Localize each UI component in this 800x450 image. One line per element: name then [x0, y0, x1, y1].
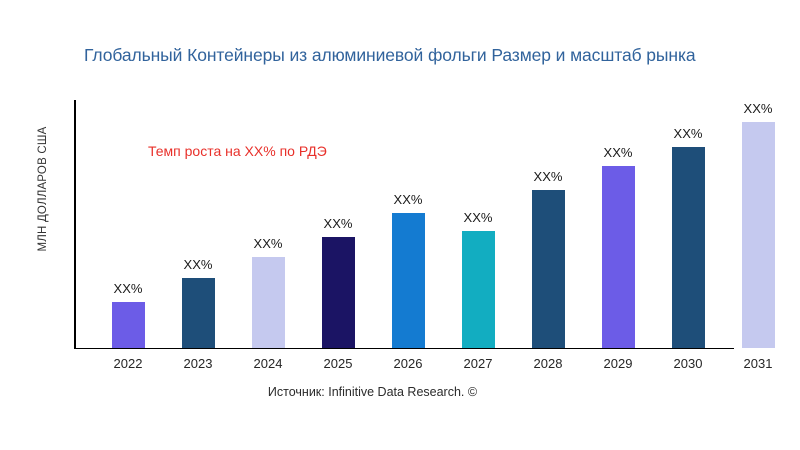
- bar-value-label: XX%: [373, 192, 443, 207]
- bar-group[interactable]: XX%2025: [303, 237, 373, 348]
- x-axis-tick-2027: 2027: [443, 356, 513, 371]
- x-axis-tick-2028: 2028: [513, 356, 583, 371]
- x-axis-tick-2030: 2030: [653, 356, 723, 371]
- bar-group[interactable]: XX%2022: [93, 302, 163, 348]
- x-axis-tick-2026: 2026: [373, 356, 443, 371]
- bar-value-label: XX%: [513, 169, 583, 184]
- bar-group[interactable]: XX%2031: [723, 122, 793, 348]
- chart-container: Глобальный Контейнеры из алюминиевой фол…: [0, 0, 800, 450]
- x-axis-tick-2025: 2025: [303, 356, 373, 371]
- bar-value-label: XX%: [723, 101, 793, 116]
- source-caption: Источник: Infinitive Data Research. ©: [0, 385, 745, 399]
- x-axis-tick-2024: 2024: [233, 356, 303, 371]
- bar-2029[interactable]: [602, 166, 635, 348]
- bar-value-label: XX%: [583, 145, 653, 160]
- bar-group[interactable]: XX%2029: [583, 166, 653, 348]
- x-axis-tick-2029: 2029: [583, 356, 653, 371]
- cagr-annotation: Темп роста на XX% по РДЭ: [148, 143, 327, 159]
- x-axis-tick-2023: 2023: [163, 356, 233, 371]
- x-axis-tick-2022: 2022: [93, 356, 163, 371]
- bar-group[interactable]: XX%2028: [513, 190, 583, 348]
- bar-value-label: XX%: [163, 257, 233, 272]
- bar-2025[interactable]: [322, 237, 355, 348]
- bar-group[interactable]: XX%2030: [653, 147, 723, 348]
- bar-2030[interactable]: [672, 147, 705, 348]
- bar-value-label: XX%: [443, 210, 513, 225]
- bar-value-label: XX%: [653, 126, 723, 141]
- x-axis-tick-2031: 2031: [723, 356, 793, 371]
- bar-value-label: XX%: [233, 236, 303, 251]
- bar-2024[interactable]: [252, 257, 285, 348]
- bar-group[interactable]: XX%2027: [443, 231, 513, 348]
- bar-2028[interactable]: [532, 190, 565, 348]
- bar-2022[interactable]: [112, 302, 145, 348]
- bar-value-label: XX%: [303, 216, 373, 231]
- bar-group[interactable]: XX%2023: [163, 278, 233, 348]
- bar-2031[interactable]: [742, 122, 775, 348]
- bar-2027[interactable]: [462, 231, 495, 348]
- bar-group[interactable]: XX%2026: [373, 213, 443, 348]
- plot-area: XX%2022XX%2023XX%2024XX%2025XX%2026XX%20…: [0, 0, 800, 450]
- bar-group[interactable]: XX%2024: [233, 257, 303, 348]
- bar-2023[interactable]: [182, 278, 215, 348]
- bar-2026[interactable]: [392, 213, 425, 348]
- bar-value-label: XX%: [93, 281, 163, 296]
